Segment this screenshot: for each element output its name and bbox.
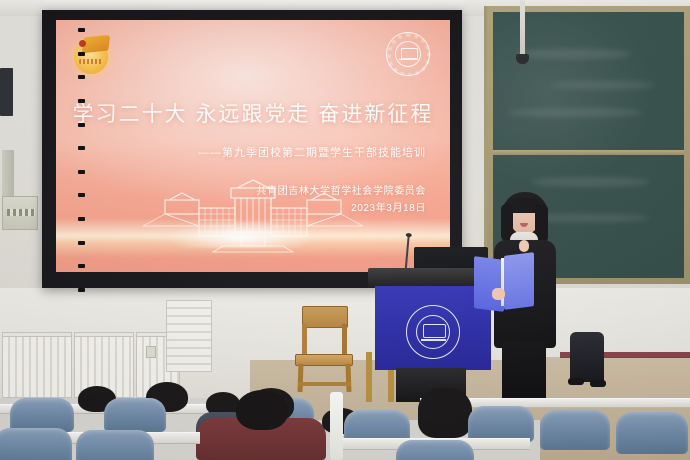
wall-speaker-panel [0, 68, 13, 116]
water-bottle [330, 392, 343, 460]
radiator [2, 336, 72, 398]
audience-member [236, 390, 288, 430]
slide-title: 学习二十大 永远跟党走 奋进新征程 [56, 98, 450, 128]
electrical-panel [2, 196, 38, 230]
wall-pipe [2, 150, 14, 196]
blue-presentation-folder [474, 254, 536, 312]
audience-member [418, 388, 472, 438]
seat [10, 398, 74, 432]
lecture-hall-photo: 学习二十大 永远跟党走 奋进新征程 ——第九季团校第二期暨学生干部技能培训 共青… [0, 0, 690, 460]
right-hand [519, 240, 529, 252]
seat [540, 410, 610, 450]
slide-subtitle: ——第九季团校第二期暨学生干部技能培训 [198, 144, 426, 160]
seat [468, 406, 534, 442]
thermostat [146, 346, 156, 358]
screen-tension-tabs [78, 28, 85, 292]
audience-member [570, 332, 604, 382]
wooden-chair [292, 306, 356, 392]
seat [76, 430, 154, 460]
trousers [502, 342, 546, 400]
seat [0, 428, 72, 460]
seat [396, 440, 474, 460]
seat [104, 398, 166, 432]
seat [616, 412, 688, 454]
jilin-university-logo [386, 32, 430, 76]
projected-slide: 学习二十大 永远跟党走 奋进新征程 ——第九季团校第二期暨学生干部技能培训 共青… [56, 20, 450, 272]
left-hand [492, 288, 505, 300]
wall-vent [166, 300, 212, 372]
jilin-university-seal [406, 305, 460, 359]
projector-cord [520, 0, 525, 56]
projection-screen: 学习二十大 永远跟党走 奋进新征程 ——第九季团校第二期暨学生干部技能培训 共青… [42, 10, 462, 288]
